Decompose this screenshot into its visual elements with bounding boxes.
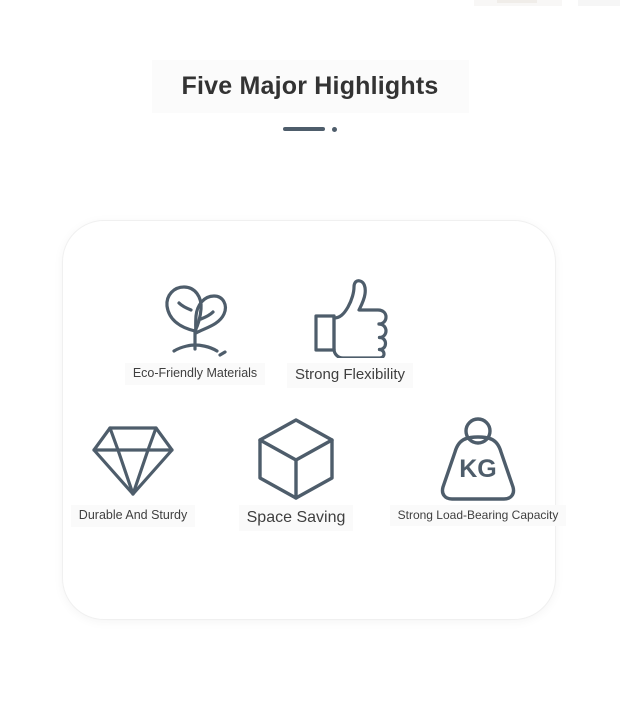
title-divider <box>0 122 620 136</box>
feature-eco-friendly-materials[interactable]: Eco-Friendly Materials <box>120 271 270 385</box>
sprout-icon <box>120 271 270 363</box>
thumbs-up-icon <box>275 271 425 363</box>
feature-durable-and-sturdy[interactable]: Durable And Sturdy <box>58 413 208 527</box>
highlights-grid: Eco-Friendly Materials Strong Flexibilit… <box>63 221 555 619</box>
divider-dot-icon <box>332 127 337 132</box>
divider-bar <box>283 127 325 131</box>
feature-strong-load-bearing-capacity[interactable]: KG Strong Load-Bearing Capacity <box>383 413 573 526</box>
feature-label: Durable And Sturdy <box>71 505 195 527</box>
page-title-container: Five Major Highlights <box>152 60 469 113</box>
section-header: Five Major Highlights <box>0 60 620 113</box>
feature-space-saving[interactable]: Space Saving <box>221 413 371 531</box>
feature-label: Strong Flexibility <box>287 363 413 388</box>
feature-label: Eco-Friendly Materials <box>125 363 265 385</box>
top-edge-artifact <box>497 0 537 3</box>
feature-label: Space Saving <box>239 505 354 531</box>
highlights-card: Eco-Friendly Materials Strong Flexibilit… <box>62 220 556 620</box>
feature-strong-flexibility[interactable]: Strong Flexibility <box>275 271 425 388</box>
top-edge-artifact <box>578 0 620 6</box>
weight-icon-text: KG <box>459 455 497 483</box>
cube-icon <box>221 413 371 505</box>
diamond-icon <box>58 413 208 505</box>
weight-kg-icon: KG <box>383 413 573 505</box>
feature-label: Strong Load-Bearing Capacity <box>390 505 567 526</box>
page-title: Five Major Highlights <box>182 70 439 103</box>
